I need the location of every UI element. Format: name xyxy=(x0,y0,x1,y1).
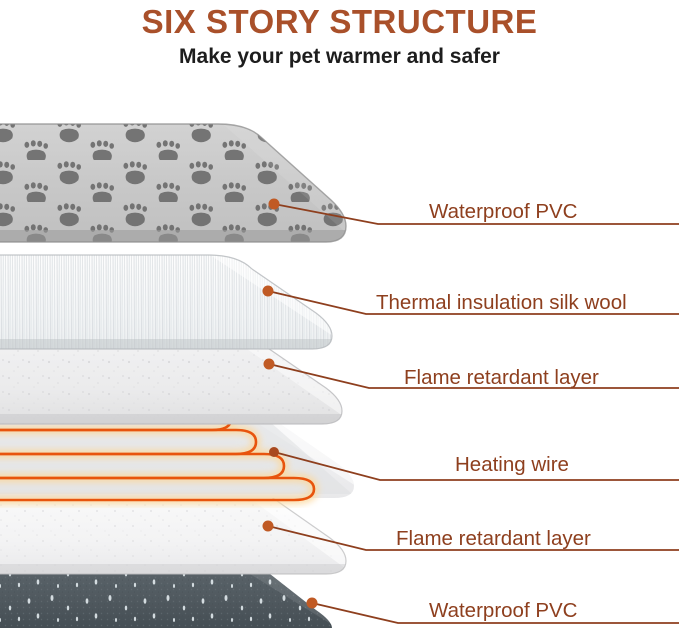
callout-4-label: Heating wire xyxy=(455,453,569,477)
callout-2-label: Thermal insulation silk wool xyxy=(376,291,627,315)
infographic-canvas: SIX STORY STRUCTURE Make your pet warmer… xyxy=(0,0,679,628)
layer-2-thermal-insulation xyxy=(0,251,386,361)
callout-6-label: Waterproof PVC xyxy=(429,599,578,623)
callout-1-label: Waterproof PVC xyxy=(429,200,578,224)
callout-5-label: Flame retardant layer xyxy=(396,527,591,551)
page-subtitle: Make your pet warmer and safer xyxy=(0,44,679,70)
page-title: SIX STORY STRUCTURE xyxy=(0,2,679,42)
callout-3-label: Flame retardant layer xyxy=(404,366,599,390)
layer-1-waterproof-pvc xyxy=(0,118,386,263)
header: SIX STORY STRUCTURE Make your pet warmer… xyxy=(0,0,679,70)
layer-1-surface xyxy=(0,118,386,263)
